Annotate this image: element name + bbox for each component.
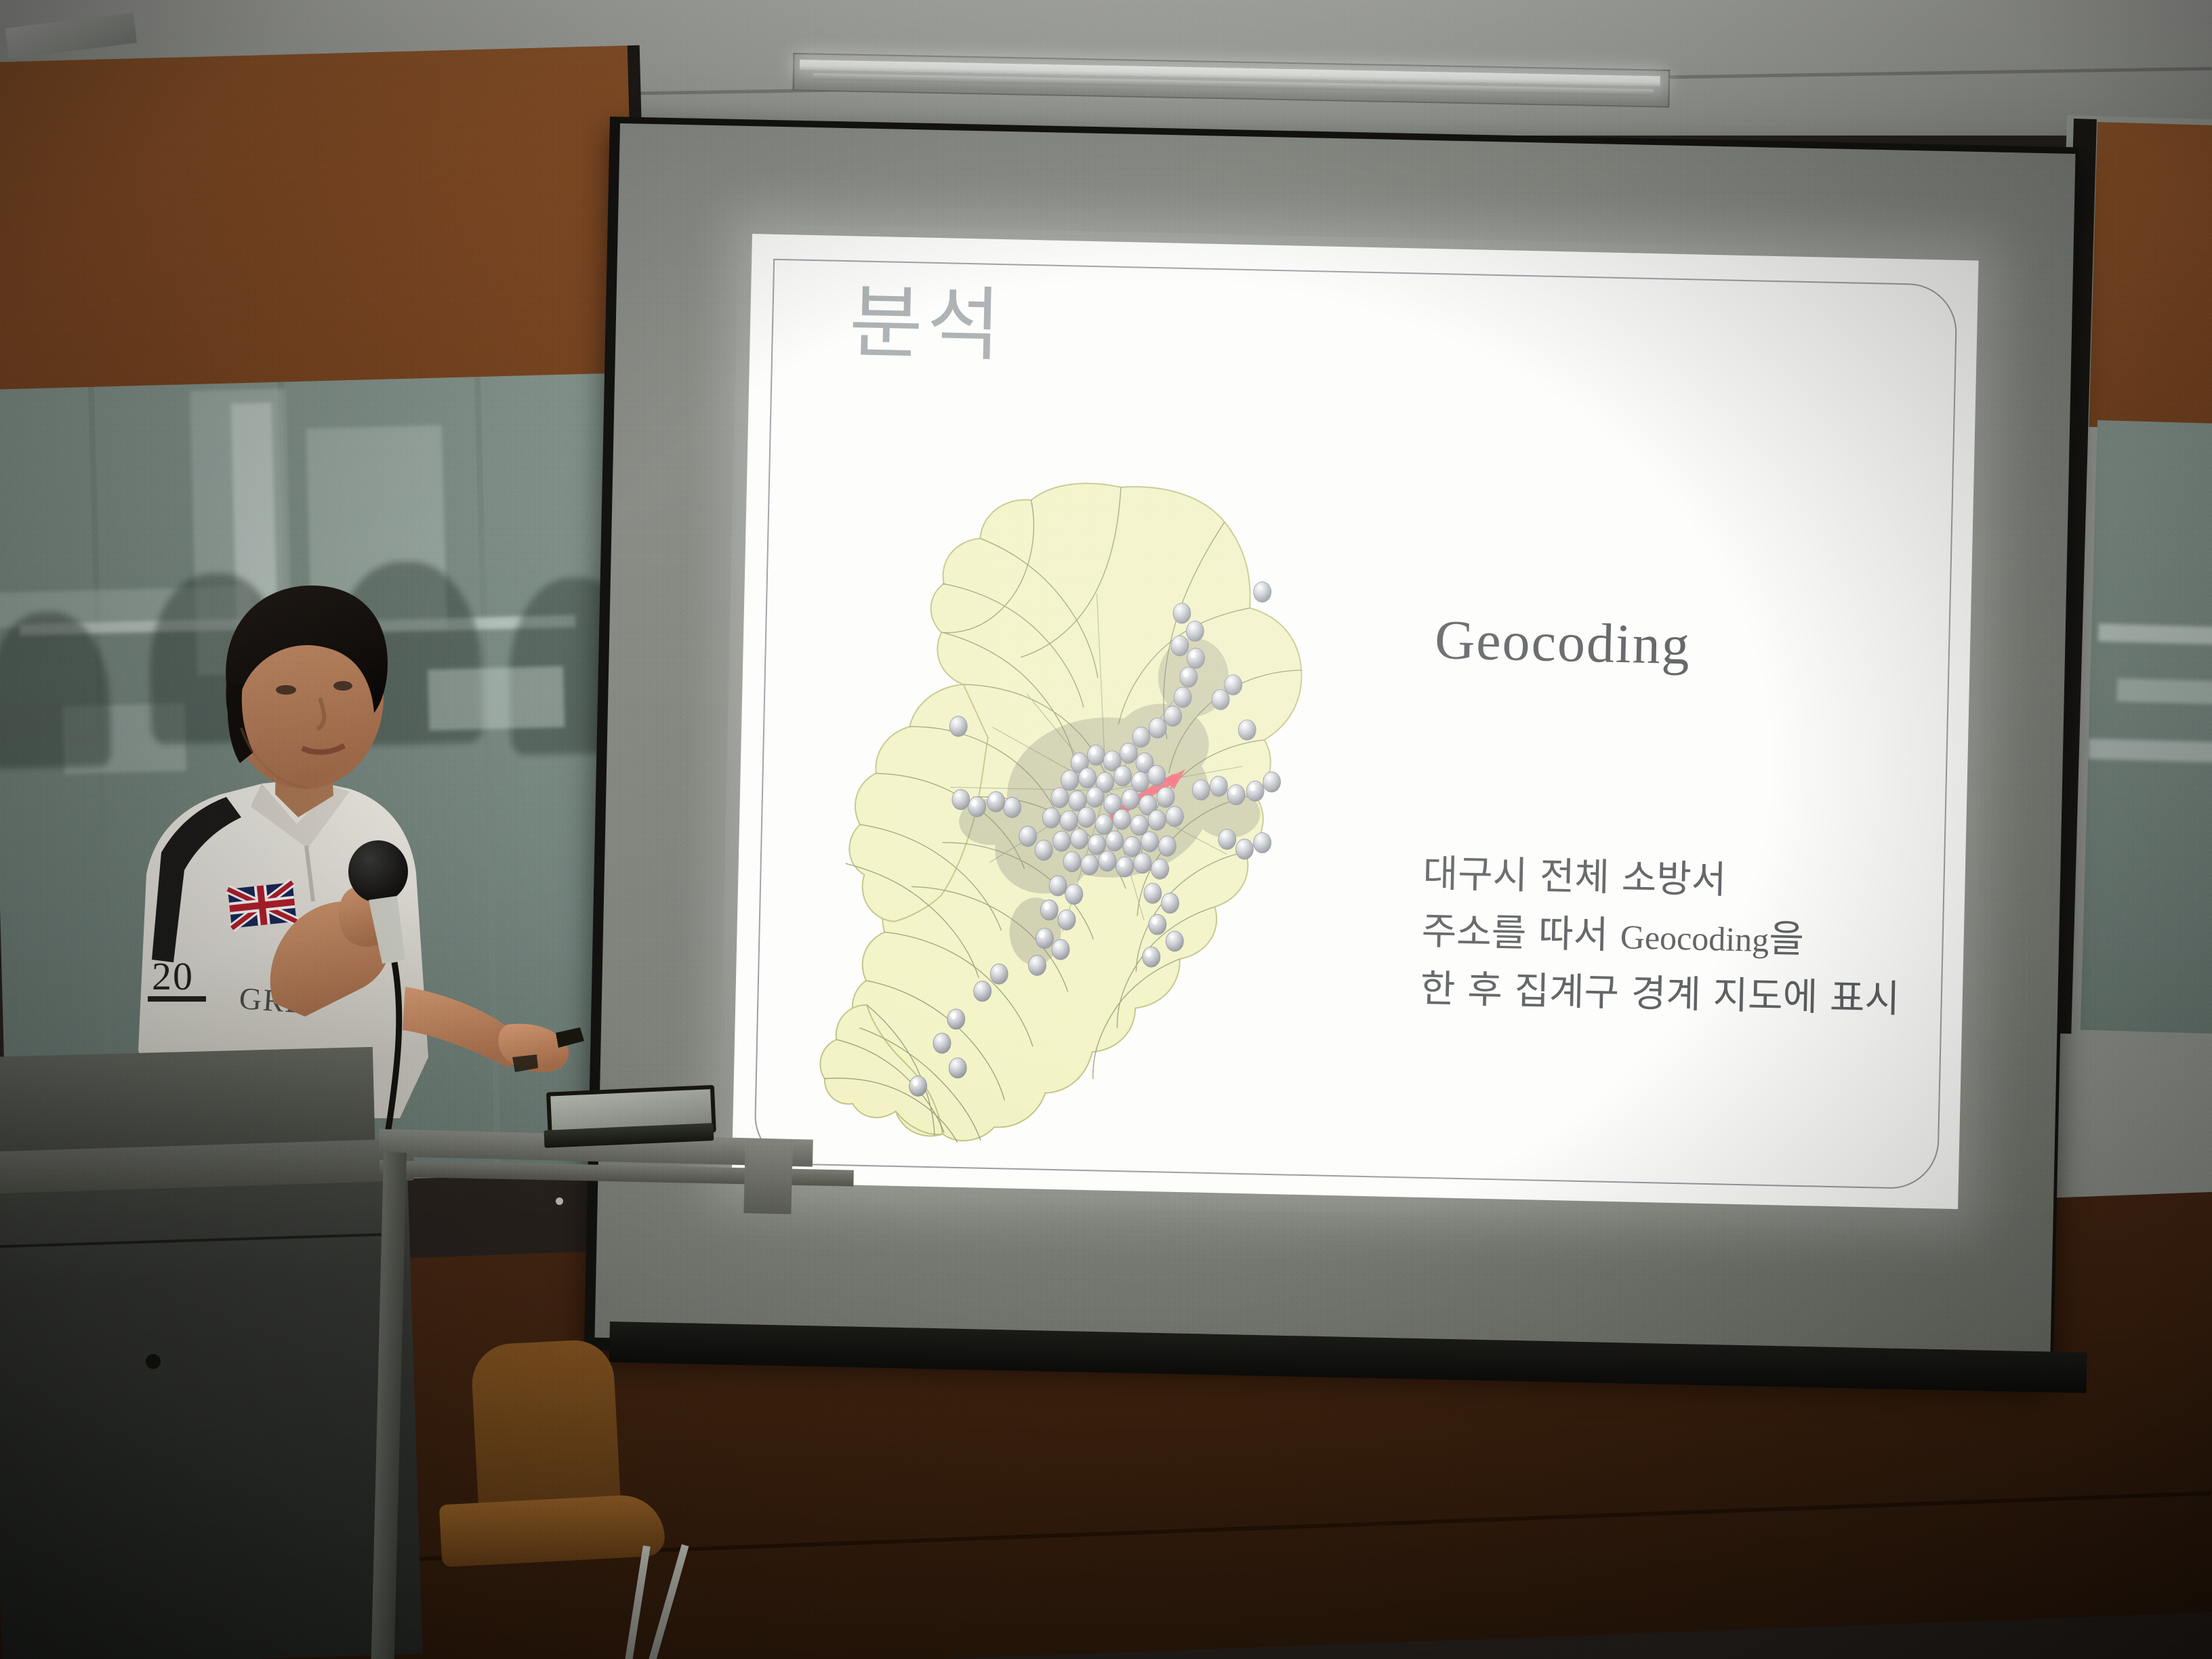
side-table-screw xyxy=(556,1197,563,1205)
presenter-eye-left xyxy=(276,685,296,695)
slide-body-text: 대구시 전체 소방서 주소를 따서 Geocoding을 한 후 집계구 경계 … xyxy=(1420,845,1938,1029)
chair-leg xyxy=(642,1544,689,1659)
presentation-clicker xyxy=(556,1027,584,1048)
presenter-eye-right xyxy=(333,681,352,691)
slide-heading-geocoding: Geocoding xyxy=(1434,608,1692,677)
presentation-slide: 분석 xyxy=(731,234,1978,1209)
chair-backrest xyxy=(470,1338,621,1515)
lectern xyxy=(0,1139,423,1659)
side-table-bracket xyxy=(743,1139,793,1214)
wood-wall-panel-right xyxy=(2089,122,2212,431)
lectern-knob[interactable] xyxy=(146,1354,161,1369)
slide-body-line-2-before: 주소를 따서 xyxy=(1421,909,1621,958)
slide-body-line-1: 대구시 전체 소방서 xyxy=(1422,845,1939,914)
chair-seat xyxy=(439,1493,665,1567)
daegu-geocoding-map xyxy=(814,466,1330,1155)
photograph-scene: 분석 xyxy=(0,0,2212,1659)
chair-leg xyxy=(620,1545,650,1659)
svg-text:20: 20 xyxy=(152,954,194,998)
slide-body-line-2-after: 을 xyxy=(1769,917,1805,962)
laptop-on-desk[interactable] xyxy=(542,1085,714,1153)
slide-body-line-3: 한 후 집계구 경계 지도에 표시 xyxy=(1420,960,1936,1029)
slide-body-line-2: 주소를 따서 Geocoding을 xyxy=(1421,903,1938,972)
slide-title: 분석 xyxy=(848,281,1006,368)
chair[interactable] xyxy=(434,1342,718,1659)
wood-wall-panel-left xyxy=(0,45,646,401)
slide-body-line-2-latin: Geocoding xyxy=(1620,918,1769,959)
union-jack-patch xyxy=(228,882,297,928)
presenter-microphone-head xyxy=(348,840,408,903)
glass-partition-right xyxy=(2081,420,2212,1034)
